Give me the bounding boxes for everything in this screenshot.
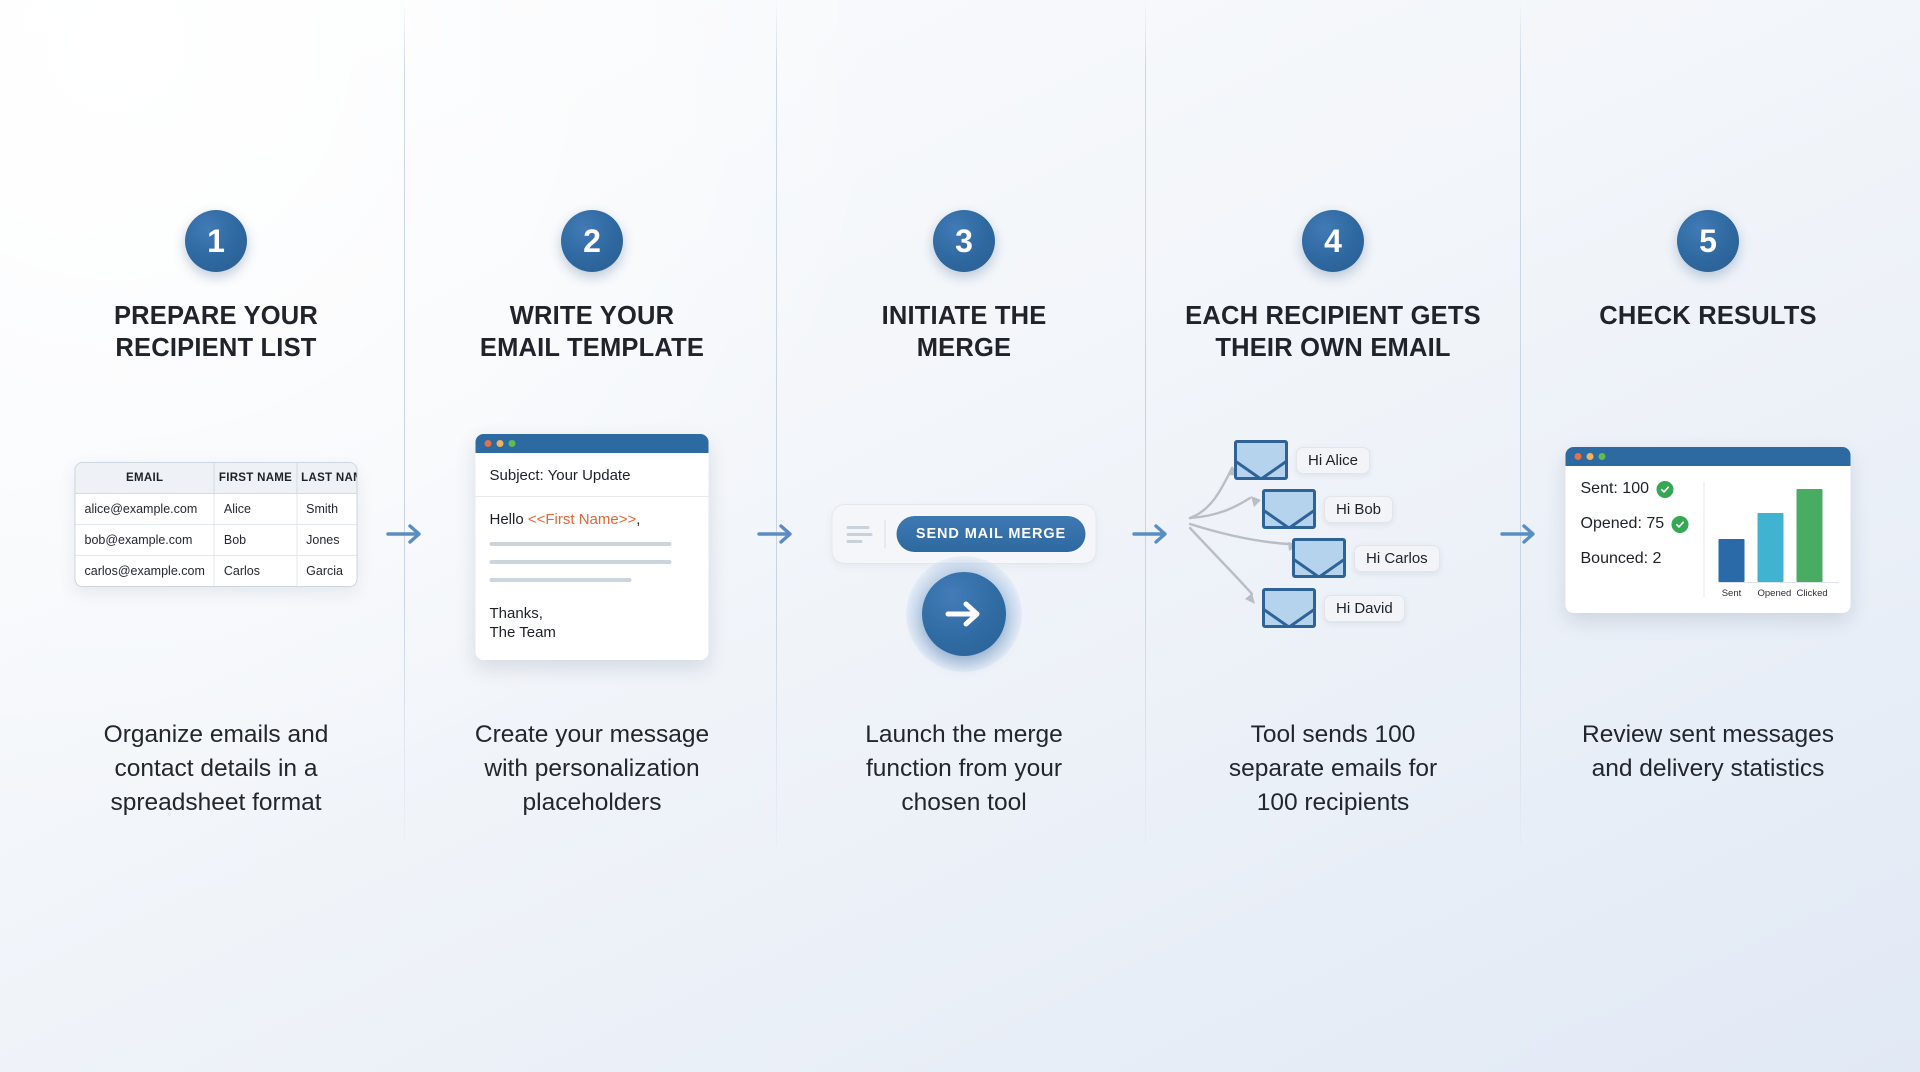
step-number-badge-4: 4 (1302, 210, 1364, 272)
envelope-icon (1234, 440, 1288, 480)
stat-sent: Sent: 100 (1581, 480, 1704, 498)
maximize-window-dot[interactable] (1599, 453, 1606, 460)
step-column-4: 4 EACH RECIPIENT GETS THEIR OWN EMAIL (1145, 0, 1521, 845)
minimize-window-dot[interactable] (497, 440, 504, 447)
recipient-item-4: Hi David (1262, 588, 1405, 628)
launch-merge-button[interactable] (922, 572, 1006, 656)
window-title-bar (1566, 447, 1851, 466)
results-body: Sent: 100 Opened: 75 Bounced: 2 (1566, 466, 1851, 613)
recipient-table: EMAIL FIRST NAME LAST NAME alice@example… (76, 463, 358, 586)
cell-email: alice@example.com (76, 494, 215, 525)
step-column-3: 3 INITIATE THE MERGE SEND MAIL MERGE Lau… (776, 0, 1152, 845)
step-number-badge-2: 2 (561, 210, 623, 272)
cell-last-name: Smith (297, 494, 358, 525)
stat-opened: Opened: 75 (1581, 515, 1704, 533)
menu-lines-icon[interactable] (833, 526, 881, 543)
launch-merge-control (898, 548, 1030, 680)
results-dashboard-window: Sent: 100 Opened: 75 Bounced: 2 (1566, 447, 1851, 613)
merge-placeholder-token: <<First Name>> (528, 511, 636, 528)
infographic-canvas: 1 PREPARE YOUR RECIPIENT LIST EMAIL FIRS… (0, 0, 1920, 1072)
recipient-fan-out-diagram: Hi Alice Hi Bob Hi Carlos Hi David (1188, 418, 1478, 618)
step-number-badge-3: 3 (933, 210, 995, 272)
envelope-icon (1262, 489, 1316, 529)
check-icon (1671, 516, 1688, 533)
recipient-greeting-bubble: Hi Alice (1296, 447, 1370, 474)
bar-opened (1758, 513, 1784, 582)
step-column-1: 1 PREPARE YOUR RECIPIENT LIST EMAIL FIRS… (28, 0, 404, 845)
cell-first-name: Bob (214, 525, 296, 556)
step-description-3: Launch the merge function from your chos… (776, 718, 1152, 819)
stat-opened-label: Opened: 75 (1581, 515, 1665, 533)
greeting-prefix: Hello (490, 511, 528, 528)
chart-x-axis-labels: Sent Opened Clicked (1719, 588, 1839, 599)
step-title-3: INITIATE THE MERGE (776, 300, 1152, 364)
recipient-item-2: Hi Bob (1262, 489, 1393, 529)
email-subject-line: Subject: Your Update (476, 453, 709, 497)
bar-clicked (1797, 489, 1823, 582)
step-description-5: Review sent messages and delivery statis… (1520, 718, 1896, 786)
step-description-4: Tool sends 100 separate emails for 100 r… (1145, 718, 1521, 819)
delivery-bar-chart: Sent Opened Clicked (1705, 480, 1851, 599)
body-text-placeholder-line (490, 560, 672, 564)
stat-bounced-label: Bounced: 2 (1581, 550, 1662, 568)
stat-bounced: Bounced: 2 (1581, 550, 1704, 568)
body-text-placeholder-line (490, 542, 672, 546)
stat-sent-label: Sent: 100 (1581, 480, 1650, 498)
delivery-stats-list: Sent: 100 Opened: 75 Bounced: 2 (1566, 480, 1704, 599)
table-header-row: EMAIL FIRST NAME LAST NAME (76, 463, 358, 494)
axis-label-sent: Sent (1719, 588, 1745, 599)
recipient-greeting-bubble: Hi David (1324, 595, 1405, 622)
minimize-window-dot[interactable] (1587, 453, 1594, 460)
step-title-1: PREPARE YOUR RECIPIENT LIST (28, 300, 404, 364)
email-signature: Thanks, The Team (490, 605, 695, 643)
step-number-badge-5: 5 (1677, 210, 1739, 272)
recipient-item-1: Hi Alice (1234, 440, 1370, 480)
envelope-icon (1262, 588, 1316, 628)
step-description-2: Create your message with personalization… (404, 718, 780, 819)
column-header-last-name: LAST NAME (297, 463, 358, 494)
cell-first-name: Carlos (214, 556, 296, 587)
axis-label-opened: Opened (1758, 588, 1784, 599)
recipient-greeting-bubble: Hi Carlos (1354, 545, 1440, 572)
email-body: Hello <<First Name>>, Thanks, The Team (476, 497, 709, 660)
step-title-4: EACH RECIPIENT GETS THEIR OWN EMAIL (1145, 300, 1521, 364)
step-title-5: CHECK RESULTS (1520, 300, 1896, 332)
greeting-suffix: , (636, 511, 640, 528)
step-number-badge-1: 1 (185, 210, 247, 272)
body-text-placeholder-line (490, 578, 632, 582)
column-header-first-name: FIRST NAME (214, 463, 296, 494)
maximize-window-dot[interactable] (509, 440, 516, 447)
table-row: carlos@example.com Carlos Garcia (76, 556, 358, 587)
cell-email: carlos@example.com (76, 556, 215, 587)
close-window-dot[interactable] (1575, 453, 1582, 460)
close-window-dot[interactable] (485, 440, 492, 447)
cell-email: bob@example.com (76, 525, 215, 556)
envelope-icon (1292, 538, 1346, 578)
check-icon (1656, 481, 1673, 498)
cell-first-name: Alice (214, 494, 296, 525)
toolbar-divider (885, 520, 886, 548)
step-title-2: WRITE YOUR EMAIL TEMPLATE (404, 300, 780, 364)
bar-sent (1719, 539, 1745, 582)
window-title-bar (476, 434, 709, 453)
axis-label-clicked: Clicked (1797, 588, 1823, 599)
table-row: alice@example.com Alice Smith (76, 494, 358, 525)
recipient-item-3: Hi Carlos (1292, 538, 1440, 578)
cell-last-name: Garcia (297, 556, 358, 587)
email-template-window: Subject: Your Update Hello <<First Name>… (476, 434, 709, 660)
step-description-1: Organize emails and contact details in a… (28, 718, 404, 819)
step-column-5: 5 CHECK RESULTS Sent: 100 Opened: 7 (1520, 0, 1896, 845)
column-header-email: EMAIL (76, 463, 215, 494)
chart-bars (1719, 486, 1839, 583)
cell-last-name: Jones (297, 525, 358, 556)
recipient-greeting-bubble: Hi Bob (1324, 496, 1393, 523)
step-column-2: 2 WRITE YOUR EMAIL TEMPLATE Subject: You… (404, 0, 780, 845)
arrow-right-icon (942, 597, 986, 631)
recipient-list-spreadsheet: EMAIL FIRST NAME LAST NAME alice@example… (75, 462, 358, 587)
email-greeting: Hello <<First Name>>, (490, 511, 695, 528)
send-mail-merge-button[interactable]: SEND MAIL MERGE (897, 516, 1086, 552)
table-row: bob@example.com Bob Jones (76, 525, 358, 556)
